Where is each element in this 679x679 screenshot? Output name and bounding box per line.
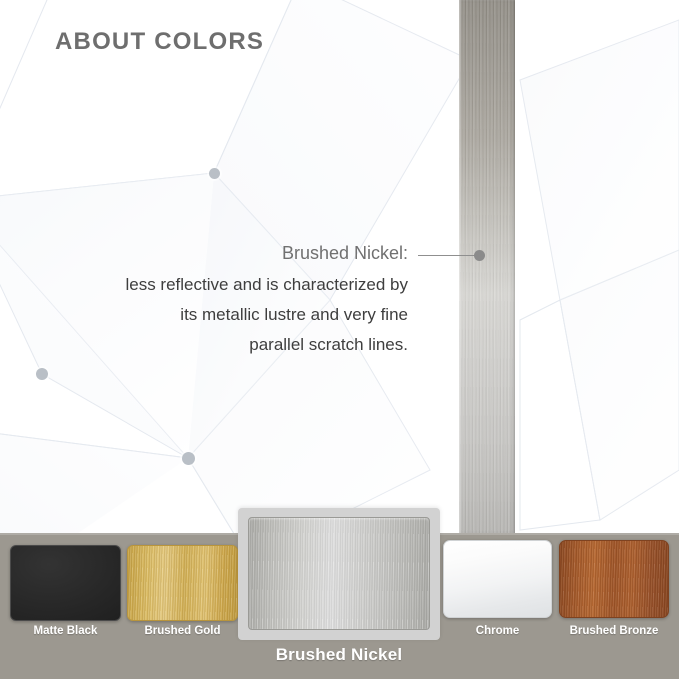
swatch-brushed-gold[interactable]	[127, 545, 238, 621]
page-title: ABOUT COLORS	[55, 28, 264, 56]
brushed-nickel-strip	[459, 0, 515, 534]
swatch-label-brushed-nickel: Brushed Nickel	[238, 645, 440, 665]
callout-body: less reflective and is characterized by …	[30, 270, 408, 360]
swatch-brushed-bronze[interactable]	[559, 540, 669, 618]
leader-dot	[474, 250, 485, 261]
swatch-label-matte-black: Matte Black	[0, 625, 131, 637]
product-color-infographic: ABOUT COLORS Brushed Nickel: less reflec…	[0, 0, 679, 679]
swatch-brushed-nickel[interactable]	[248, 517, 430, 630]
swatch-chrome[interactable]	[443, 540, 552, 618]
swatch-label-brushed-gold: Brushed Gold	[117, 625, 248, 637]
brushed-grain-texture	[459, 0, 515, 534]
callout-heading: Brushed Nickel:	[30, 240, 408, 266]
swatch-matte-black[interactable]	[10, 545, 121, 621]
swatch-label-brushed-bronze: Brushed Bronze	[549, 625, 679, 637]
callout-block: Brushed Nickel: less reflective and is c…	[30, 240, 408, 360]
swatch-label-chrome: Chrome	[433, 625, 562, 637]
poly-node-dot	[36, 368, 48, 380]
poly-node-dot	[209, 168, 220, 179]
callout-line-1: less reflective and is characterized by	[30, 270, 408, 300]
leader-line	[418, 255, 480, 256]
callout-line-2: its metallic lustre and very fine	[30, 300, 408, 330]
poly-node-dot	[182, 452, 195, 465]
callout-line-3: parallel scratch lines.	[30, 330, 408, 360]
